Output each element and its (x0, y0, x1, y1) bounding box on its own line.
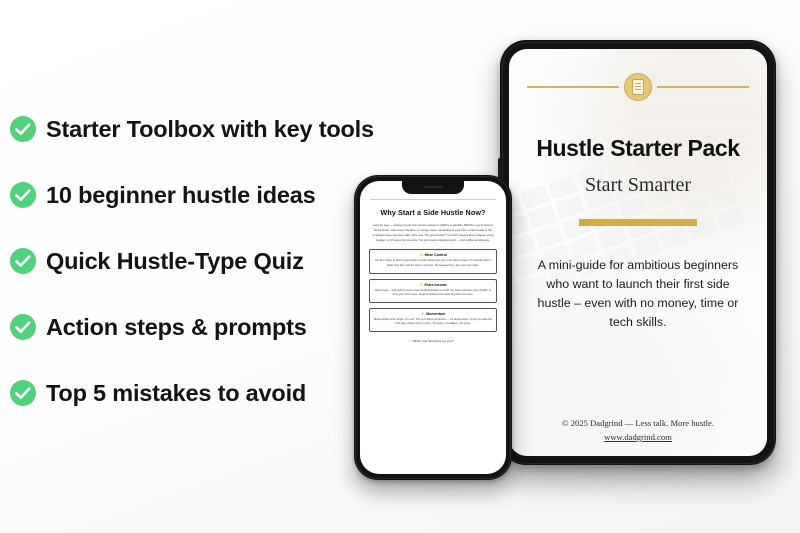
tablet-mockup: Hustle Starter Pack Start Smarter A mini… (500, 40, 776, 465)
spark-icon: ⚡ (419, 253, 423, 257)
spark-icon: ⚡ (421, 312, 425, 316)
phone-benefit-card: ⚡ More Control You don't have to ask for… (369, 249, 497, 273)
website-link[interactable]: www.dadgrind.com (562, 432, 714, 442)
book-badge-icon (624, 73, 652, 101)
check-circle-icon (10, 314, 36, 340)
phone-benefit-card: ⚡ Extra Income Start small — and build i… (369, 279, 497, 303)
list-item: Starter Toolbox with key tools (10, 96, 360, 162)
phone-card-heading-text: Momentum (426, 312, 445, 316)
check-circle-icon (10, 116, 36, 142)
phone-notch (402, 181, 464, 194)
phone-card-heading: ⚡ Momentum (374, 312, 492, 316)
emblem-line-left (527, 86, 619, 87)
phone-intro-paragraph: Let's be real — relying on just one inco… (368, 223, 498, 243)
copyright-line: © 2025 Dadgrind — Less talk. More hustle… (562, 418, 714, 428)
book-glyph (632, 79, 644, 95)
phone-mockup: Why Start a Side Hustle Now? Let's be re… (354, 175, 512, 480)
phone-page-content: Why Start a Side Hustle Now? Let's be re… (360, 181, 506, 474)
benefit-label: 10 beginner hustle ideas (46, 182, 315, 209)
phone-screen: Why Start a Side Hustle Now? Let's be re… (360, 181, 506, 474)
phone-card-body: Most people never begin. You will. This … (374, 318, 492, 327)
phone-card-body: You don't have to ask for permission. A … (374, 259, 492, 268)
list-item: 10 beginner hustle ideas (10, 162, 360, 228)
gold-divider-bar (579, 219, 697, 226)
phone-card-heading: ⚡ Extra Income (374, 283, 492, 287)
tablet-screen: Hustle Starter Pack Start Smarter A mini… (509, 49, 767, 456)
spark-icon: ⚡ (419, 283, 423, 287)
emblem-row (527, 73, 749, 101)
list-item: Top 5 mistakes to avoid (10, 360, 360, 426)
phone-card-heading-text: Extra Income (424, 283, 447, 287)
promo-graphic: Starter Toolbox with key tools 10 beginn… (0, 0, 800, 533)
ebook-footer: © 2025 Dadgrind — Less talk. More hustle… (562, 413, 714, 442)
check-circle-icon (10, 248, 36, 274)
phone-closing-line: Which one hits home for you? (368, 339, 498, 343)
phone-speaker-icon (423, 186, 443, 188)
check-circle-icon (10, 182, 36, 208)
benefit-label: Top 5 mistakes to avoid (46, 380, 306, 407)
ebook-title: Hustle Starter Pack (536, 135, 739, 162)
benefit-label: Quick Hustle-Type Quiz (46, 248, 304, 275)
emblem-line-right (657, 86, 749, 87)
benefit-label: Starter Toolbox with key tools (46, 116, 374, 143)
phone-card-body: Start small — and build it. Even a few h… (374, 289, 492, 298)
ebook-cover: Hustle Starter Pack Start Smarter A mini… (509, 49, 767, 456)
phone-divider (370, 199, 496, 200)
list-item: Action steps & prompts (10, 294, 360, 360)
phone-card-heading: ⚡ More Control (374, 253, 492, 257)
benefit-label: Action steps & prompts (46, 314, 307, 341)
phone-benefit-card: ⚡ Momentum Most people never begin. You … (369, 308, 497, 332)
check-circle-icon (10, 380, 36, 406)
list-item: Quick Hustle-Type Quiz (10, 228, 360, 294)
benefits-list: Starter Toolbox with key tools 10 beginn… (10, 96, 360, 426)
phone-page-title: Why Start a Side Hustle Now? (368, 208, 498, 217)
phone-card-heading-text: More Control (425, 253, 447, 257)
ebook-description: A mini-guide for ambitious beginners who… (531, 256, 746, 331)
ebook-subtitle: Start Smarter (585, 174, 691, 197)
